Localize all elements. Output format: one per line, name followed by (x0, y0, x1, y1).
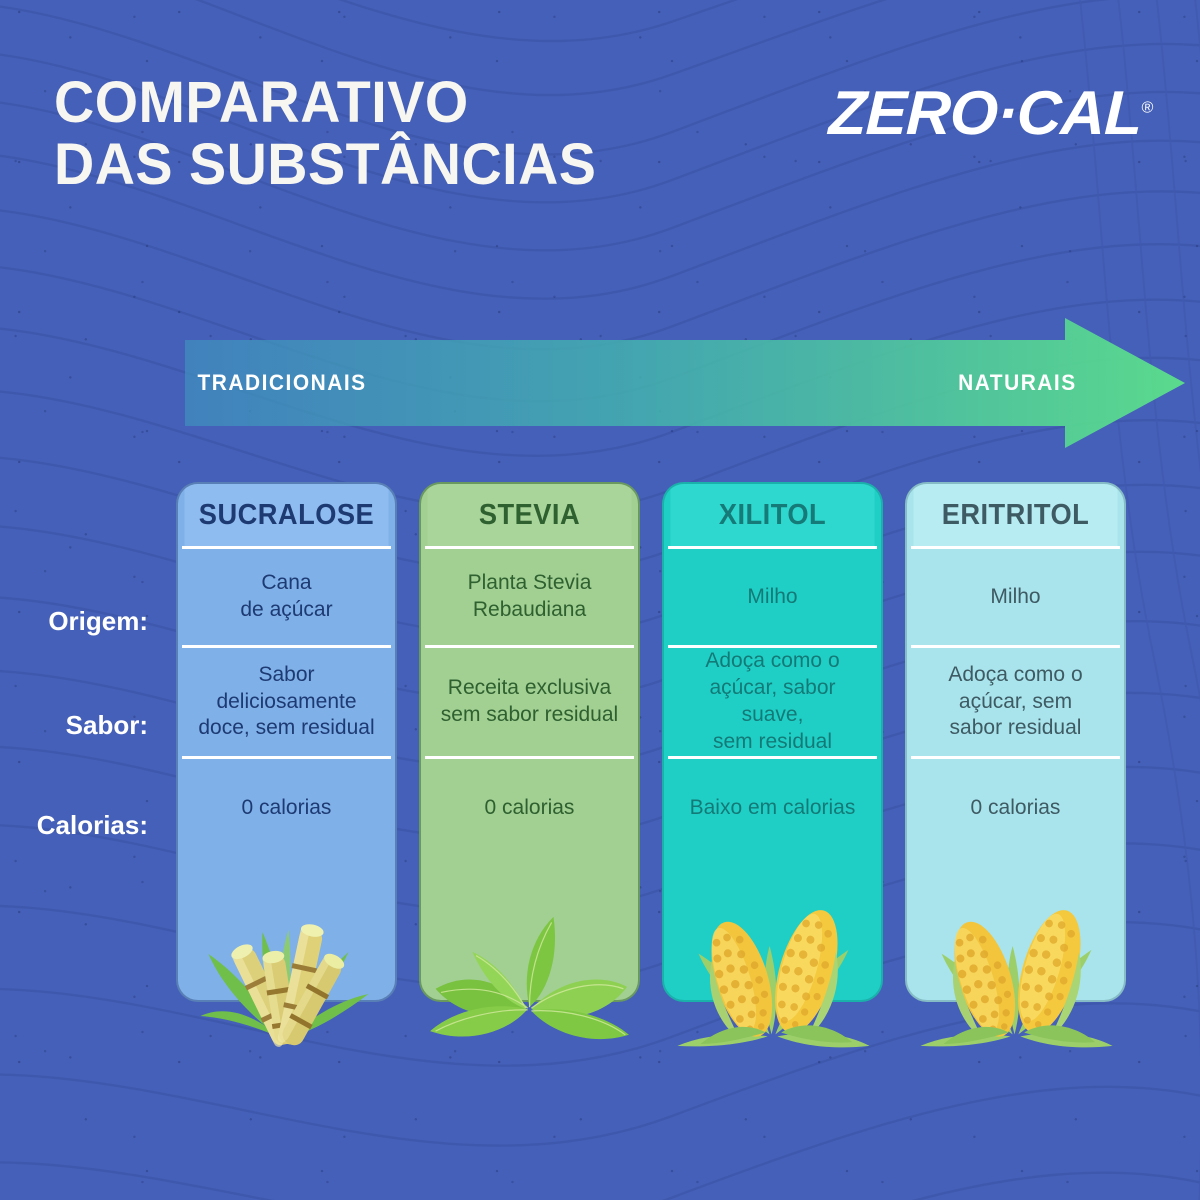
comparison-card-stevia[interactable]: STEVIA Planta Stevia Rebaudiana Receita … (419, 482, 640, 1002)
comparison-table: SUCRALOSE Cana de açúcar Sabor deliciosa… (176, 482, 1126, 1002)
cell-sabor-sucralose: Sabor deliciosamente doce, sem residual (178, 648, 395, 756)
brand-logo-text: ZERO·CAL (828, 79, 1143, 148)
cell-origem-xilitol: Milho (664, 549, 881, 645)
comparison-card-xilitol[interactable]: XILITOL Milho Adoça como o açúcar, sabor… (662, 482, 883, 1002)
cell-origem-sucralose: Cana de açúcar (178, 549, 395, 645)
cell-calorias-sucralose: 0 calorias (178, 759, 395, 857)
header: COMPARATIVO DAS SUBSTÂNCIAS ZERO·CAL® (0, 0, 1200, 300)
cell-calorias-xilitol: Baixo em calorias (664, 759, 881, 857)
card-title-xilitol: XILITOL (671, 484, 875, 546)
page-title: COMPARATIVO DAS SUBSTÂNCIAS (54, 72, 596, 196)
cell-origem-stevia: Planta Stevia Rebaudiana (421, 549, 638, 645)
brand-logo: ZERO·CAL® (828, 78, 1154, 149)
card-title-eritritol: ERITRITOL (914, 484, 1118, 546)
cell-calorias-stevia: 0 calorias (421, 759, 638, 857)
spectrum-label-natural: NATURAIS (958, 370, 1077, 396)
cell-origem-eritritol: Milho (907, 549, 1124, 645)
spectrum-label-traditional: TRADICIONAIS (197, 370, 366, 396)
row-label-sabor: Sabor: (66, 710, 148, 741)
cell-sabor-stevia: Receita exclusiva sem sabor residual (421, 648, 638, 756)
row-label-calorias: Calorias: (37, 810, 148, 841)
comparison-card-eritritol[interactable]: ERITRITOL Milho Adoça como o açúcar, sem… (905, 482, 1126, 1002)
cell-sabor-xilitol: Adoça como o açúcar, sabor suave, sem re… (664, 648, 881, 756)
card-title-sucralose: SUCRALOSE (185, 484, 389, 546)
registered-trademark-icon: ® (1141, 99, 1152, 116)
comparison-card-sucralose[interactable]: SUCRALOSE Cana de açúcar Sabor deliciosa… (176, 482, 397, 1002)
cell-sabor-eritritol: Adoça como o açúcar, sem sabor residual (907, 648, 1124, 756)
spectrum-arrow: TRADICIONAIS NATURAIS (185, 318, 1185, 448)
card-title-stevia: STEVIA (428, 484, 632, 546)
row-label-origem: Origem: (48, 606, 148, 637)
cell-calorias-eritritol: 0 calorias (907, 759, 1124, 857)
